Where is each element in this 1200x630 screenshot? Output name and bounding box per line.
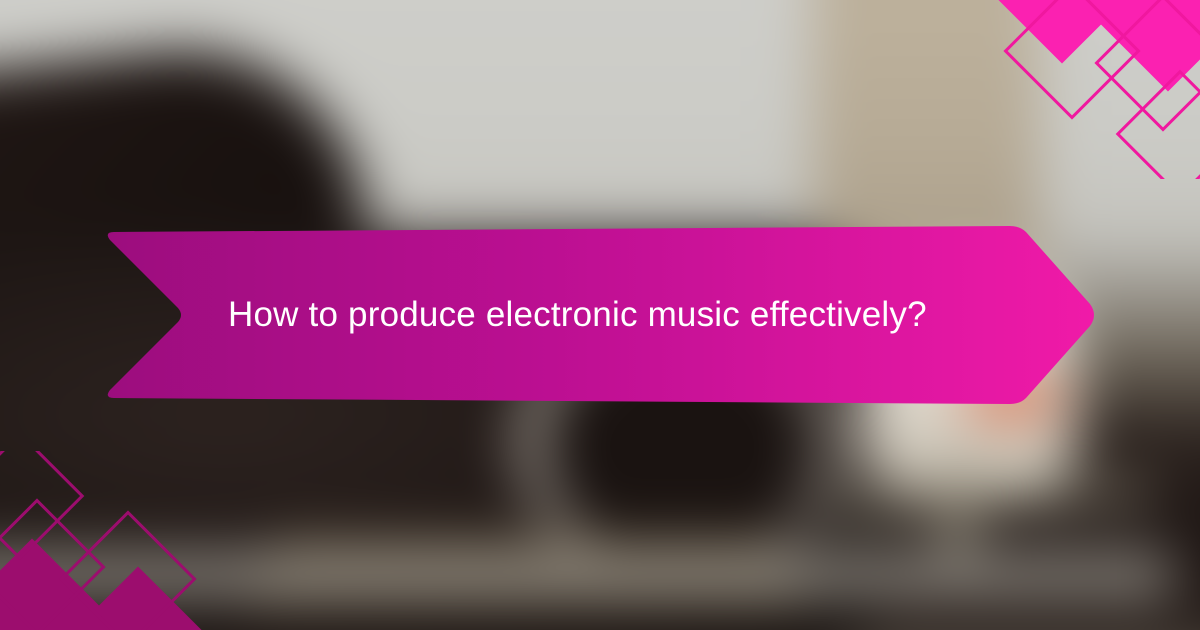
floor-strip (0, 554, 1172, 596)
page-title: How to produce electronic music effectiv… (228, 226, 988, 404)
banner-canvas: How to produce electronic music effectiv… (0, 0, 1200, 630)
headline-text: How to produce electronic music effectiv… (228, 295, 927, 335)
